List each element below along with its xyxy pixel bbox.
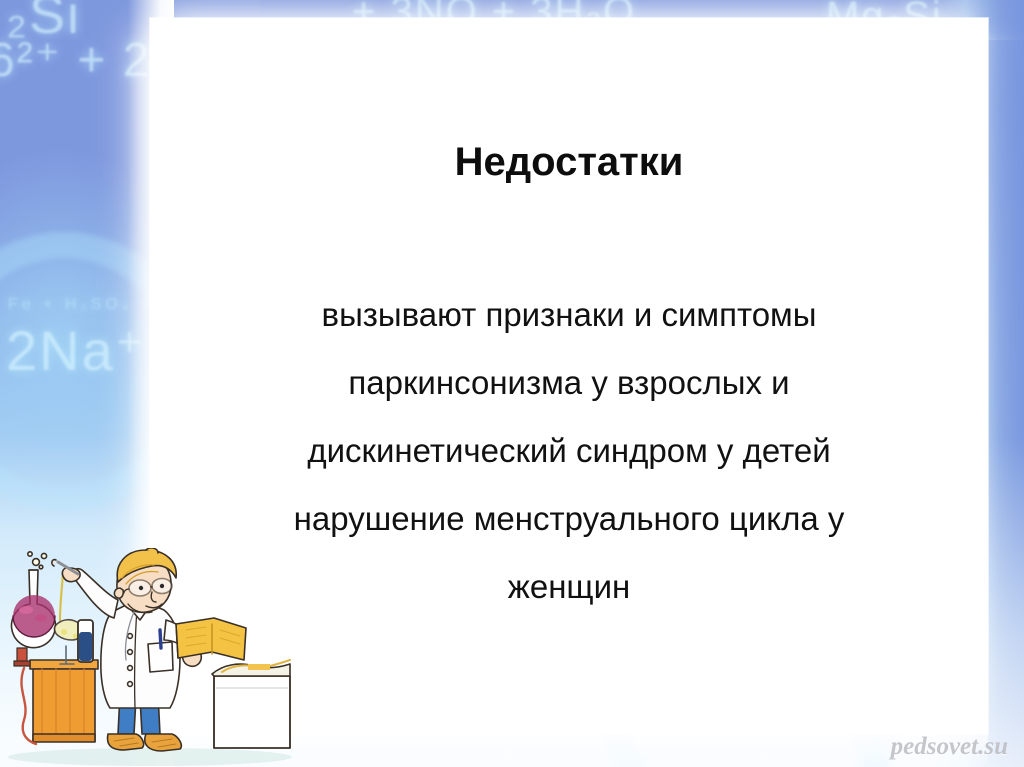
slide-body-text: вызывают признаки и симптомы паркинсониз… bbox=[186, 288, 952, 614]
body-line-1: вызывают признаки и симптомы bbox=[186, 288, 952, 342]
body-line-3: дискинетический синдром у детей bbox=[186, 424, 952, 478]
background-formula-sodium: 2Na⁺ bbox=[6, 318, 146, 384]
cartoon-chemist-illustration bbox=[0, 548, 300, 767]
presentation-slide: ₂Si 6²⁺ + 2OH + 3NO + 3H₂O Mg₂Si Fe + H₂… bbox=[0, 0, 1024, 767]
body-line-5: женщин bbox=[186, 560, 952, 614]
slide-title: Недостатки bbox=[150, 140, 988, 184]
watermark: pedsovet.su bbox=[891, 733, 1008, 761]
body-line-2: паркинсонизма у взрослых и bbox=[186, 356, 952, 410]
body-line-4: нарушение менструального цикла у bbox=[186, 492, 952, 546]
